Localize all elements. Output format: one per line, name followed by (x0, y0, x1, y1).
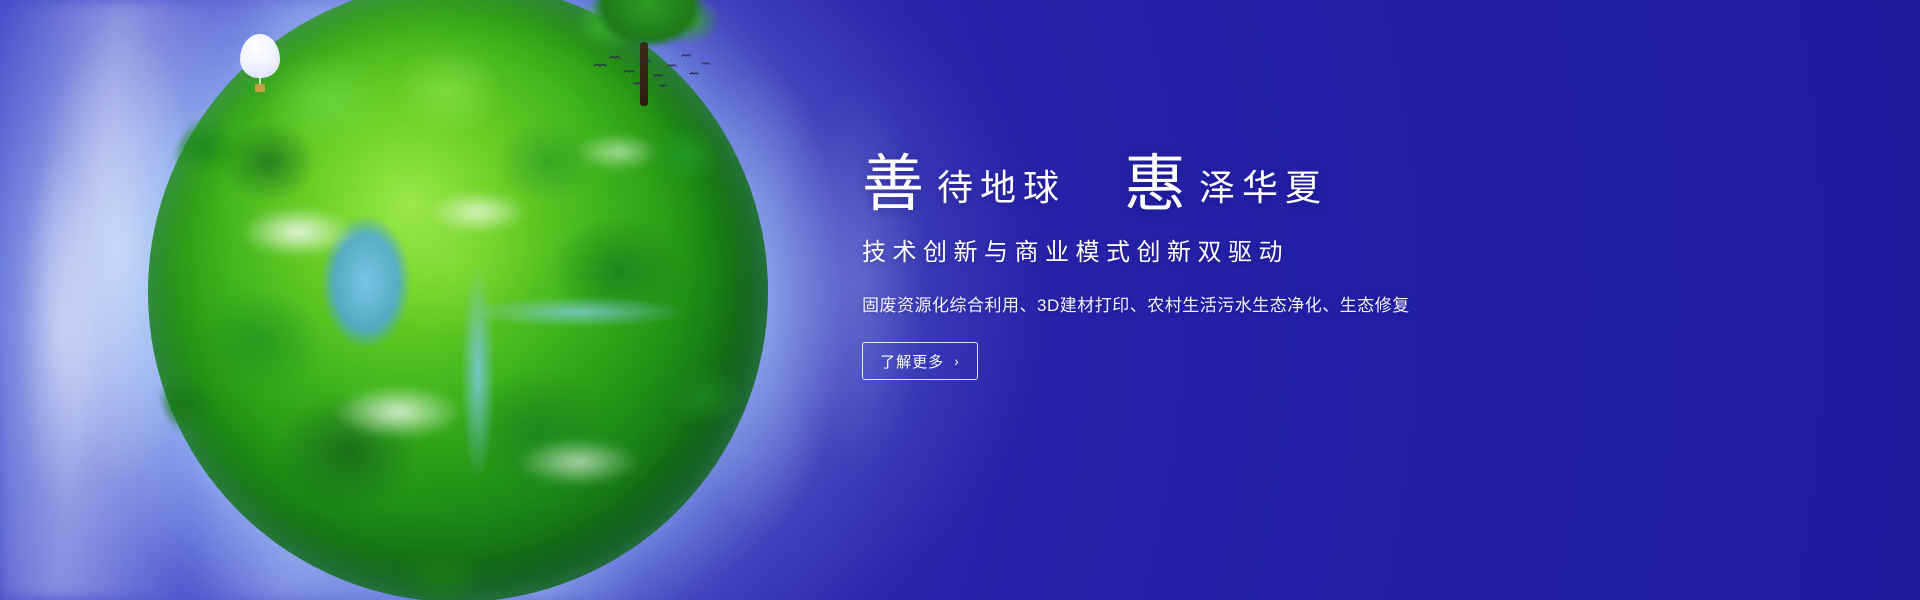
headline-phrase-two: 惠 泽华夏 (1124, 152, 1328, 214)
headline-rest-one: 待地球 (937, 170, 1066, 206)
banner-description: 固废资源化综合利用、3D建材打印、农村生活污水生态净化、生态修复 (862, 291, 1482, 316)
hot-air-balloon-icon (240, 34, 280, 96)
banner-subtitle: 技术创新与商业模式创新双驱动 (862, 232, 1482, 267)
globe-halo-glow (78, 0, 838, 600)
birds-flock-icon (590, 52, 720, 92)
headline-accent-char-one: 善 (862, 154, 925, 216)
cloud-wisps-decoration (0, 0, 950, 600)
banner-text-content: 善 待地球 惠 泽华夏 技术创新与商业模式创新双驱动 固废资源化综合利用、3D建… (862, 130, 1482, 380)
headline-phrase-one: 善 待地球 (862, 152, 1066, 214)
headline-rest-two: 泽华夏 (1199, 170, 1328, 206)
learn-more-label: 了解更多 (880, 351, 944, 372)
balloon-basket (255, 84, 265, 92)
headline-accent-char-two: 惠 (1124, 154, 1187, 216)
chevron-right-icon: › (954, 354, 960, 368)
learn-more-button[interactable]: 了解更多 › (862, 342, 978, 380)
headline: 善 待地球 惠 泽华夏 (862, 130, 1482, 214)
balloon-envelope (240, 34, 280, 78)
hero-banner: 善 待地球 惠 泽华夏 技术创新与商业模式创新双驱动 固废资源化综合利用、3D建… (0, 0, 1920, 600)
